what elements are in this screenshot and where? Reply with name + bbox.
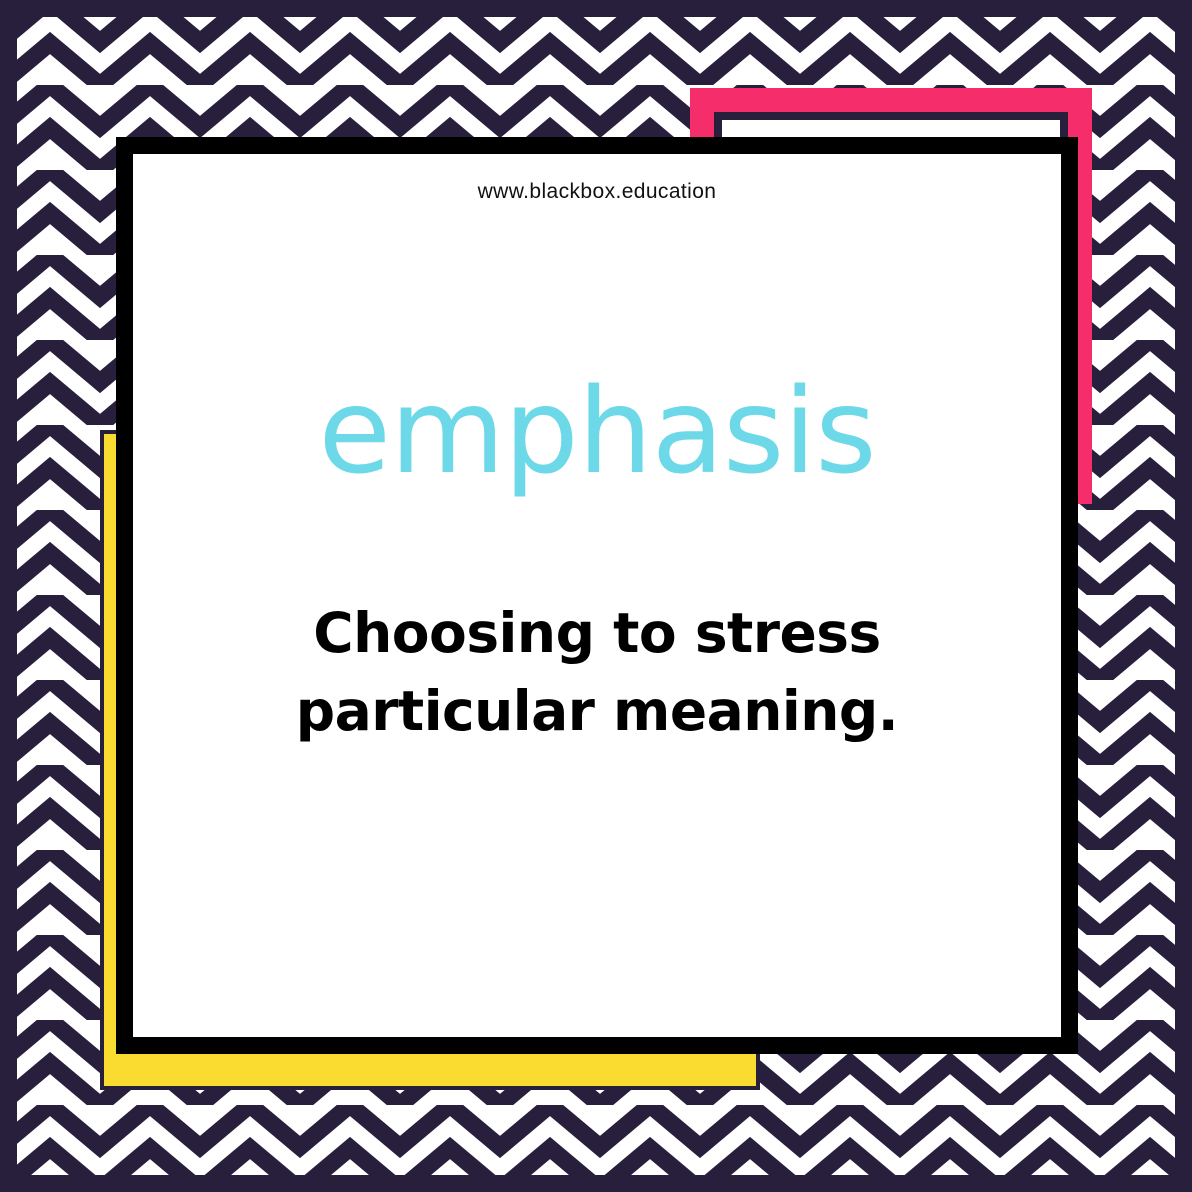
card-inner-surface: www.blackbox.education emphasis Choosing… (133, 154, 1061, 1037)
site-url: www.blackbox.education (133, 180, 1061, 204)
term-definition: Choosing to stress particular meaning. (189, 594, 1005, 750)
poster-canvas: www.blackbox.education emphasis Choosing… (0, 0, 1192, 1192)
definition-card: www.blackbox.education emphasis Choosing… (116, 137, 1078, 1054)
term-heading: emphasis (133, 370, 1061, 494)
